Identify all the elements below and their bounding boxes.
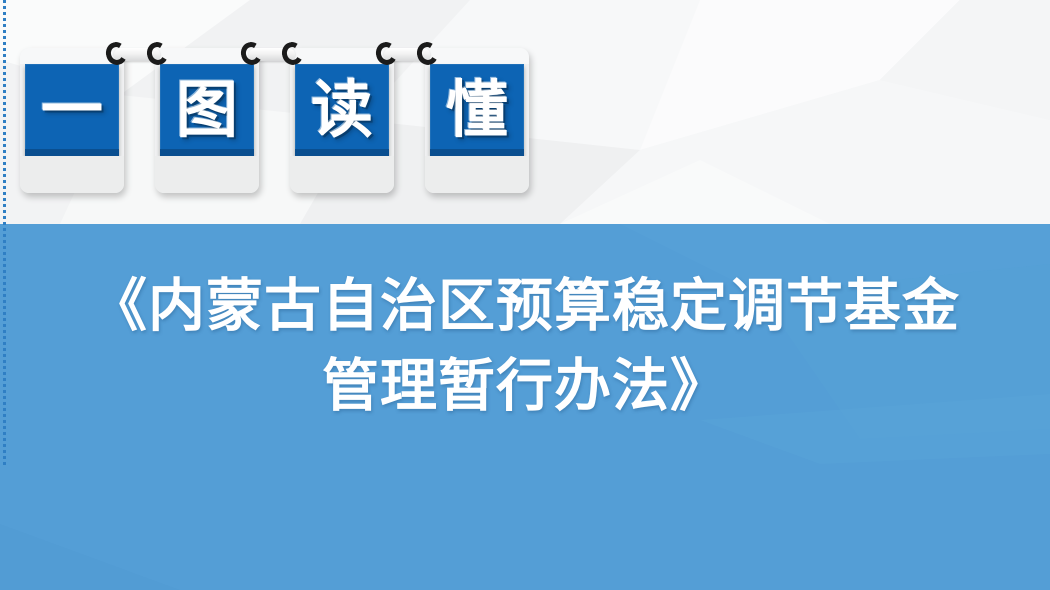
card-bottom	[290, 156, 394, 193]
page-title-line-1: 《内蒙古自治区预算稳定调节基金	[0, 266, 1050, 346]
card-character: 读	[311, 79, 373, 141]
list-item[interactable]: 图	[155, 48, 259, 193]
list-item[interactable]: 一	[20, 48, 124, 193]
card-tab	[425, 48, 529, 64]
card-bottom	[20, 156, 124, 193]
card-tab	[155, 48, 259, 64]
card-bottom	[155, 156, 259, 193]
card-character: 一	[41, 79, 103, 141]
page-title: 《内蒙古自治区预算稳定调节基金 管理暂行办法》	[0, 266, 1050, 426]
card-character: 图	[176, 79, 238, 141]
list-item[interactable]: 读	[290, 48, 394, 193]
card-plate: 图	[160, 64, 254, 156]
poster-canvas: 一 图 读 懂	[0, 0, 1050, 590]
list-item[interactable]: 懂	[425, 48, 529, 193]
left-dashed-edge	[3, 0, 6, 466]
card-tab	[20, 48, 124, 64]
card-plate: 一	[25, 64, 119, 156]
header-band: 一 图 读 懂	[0, 0, 1050, 224]
card-tab	[290, 48, 394, 64]
card-bottom	[425, 156, 529, 193]
card-plate: 读	[295, 64, 389, 156]
card-character: 懂	[446, 79, 508, 141]
page-title-line-2: 管理暂行办法》	[0, 346, 1050, 426]
card-plate: 懂	[430, 64, 524, 156]
title-band: 《内蒙古自治区预算稳定调节基金 管理暂行办法》	[0, 224, 1050, 590]
